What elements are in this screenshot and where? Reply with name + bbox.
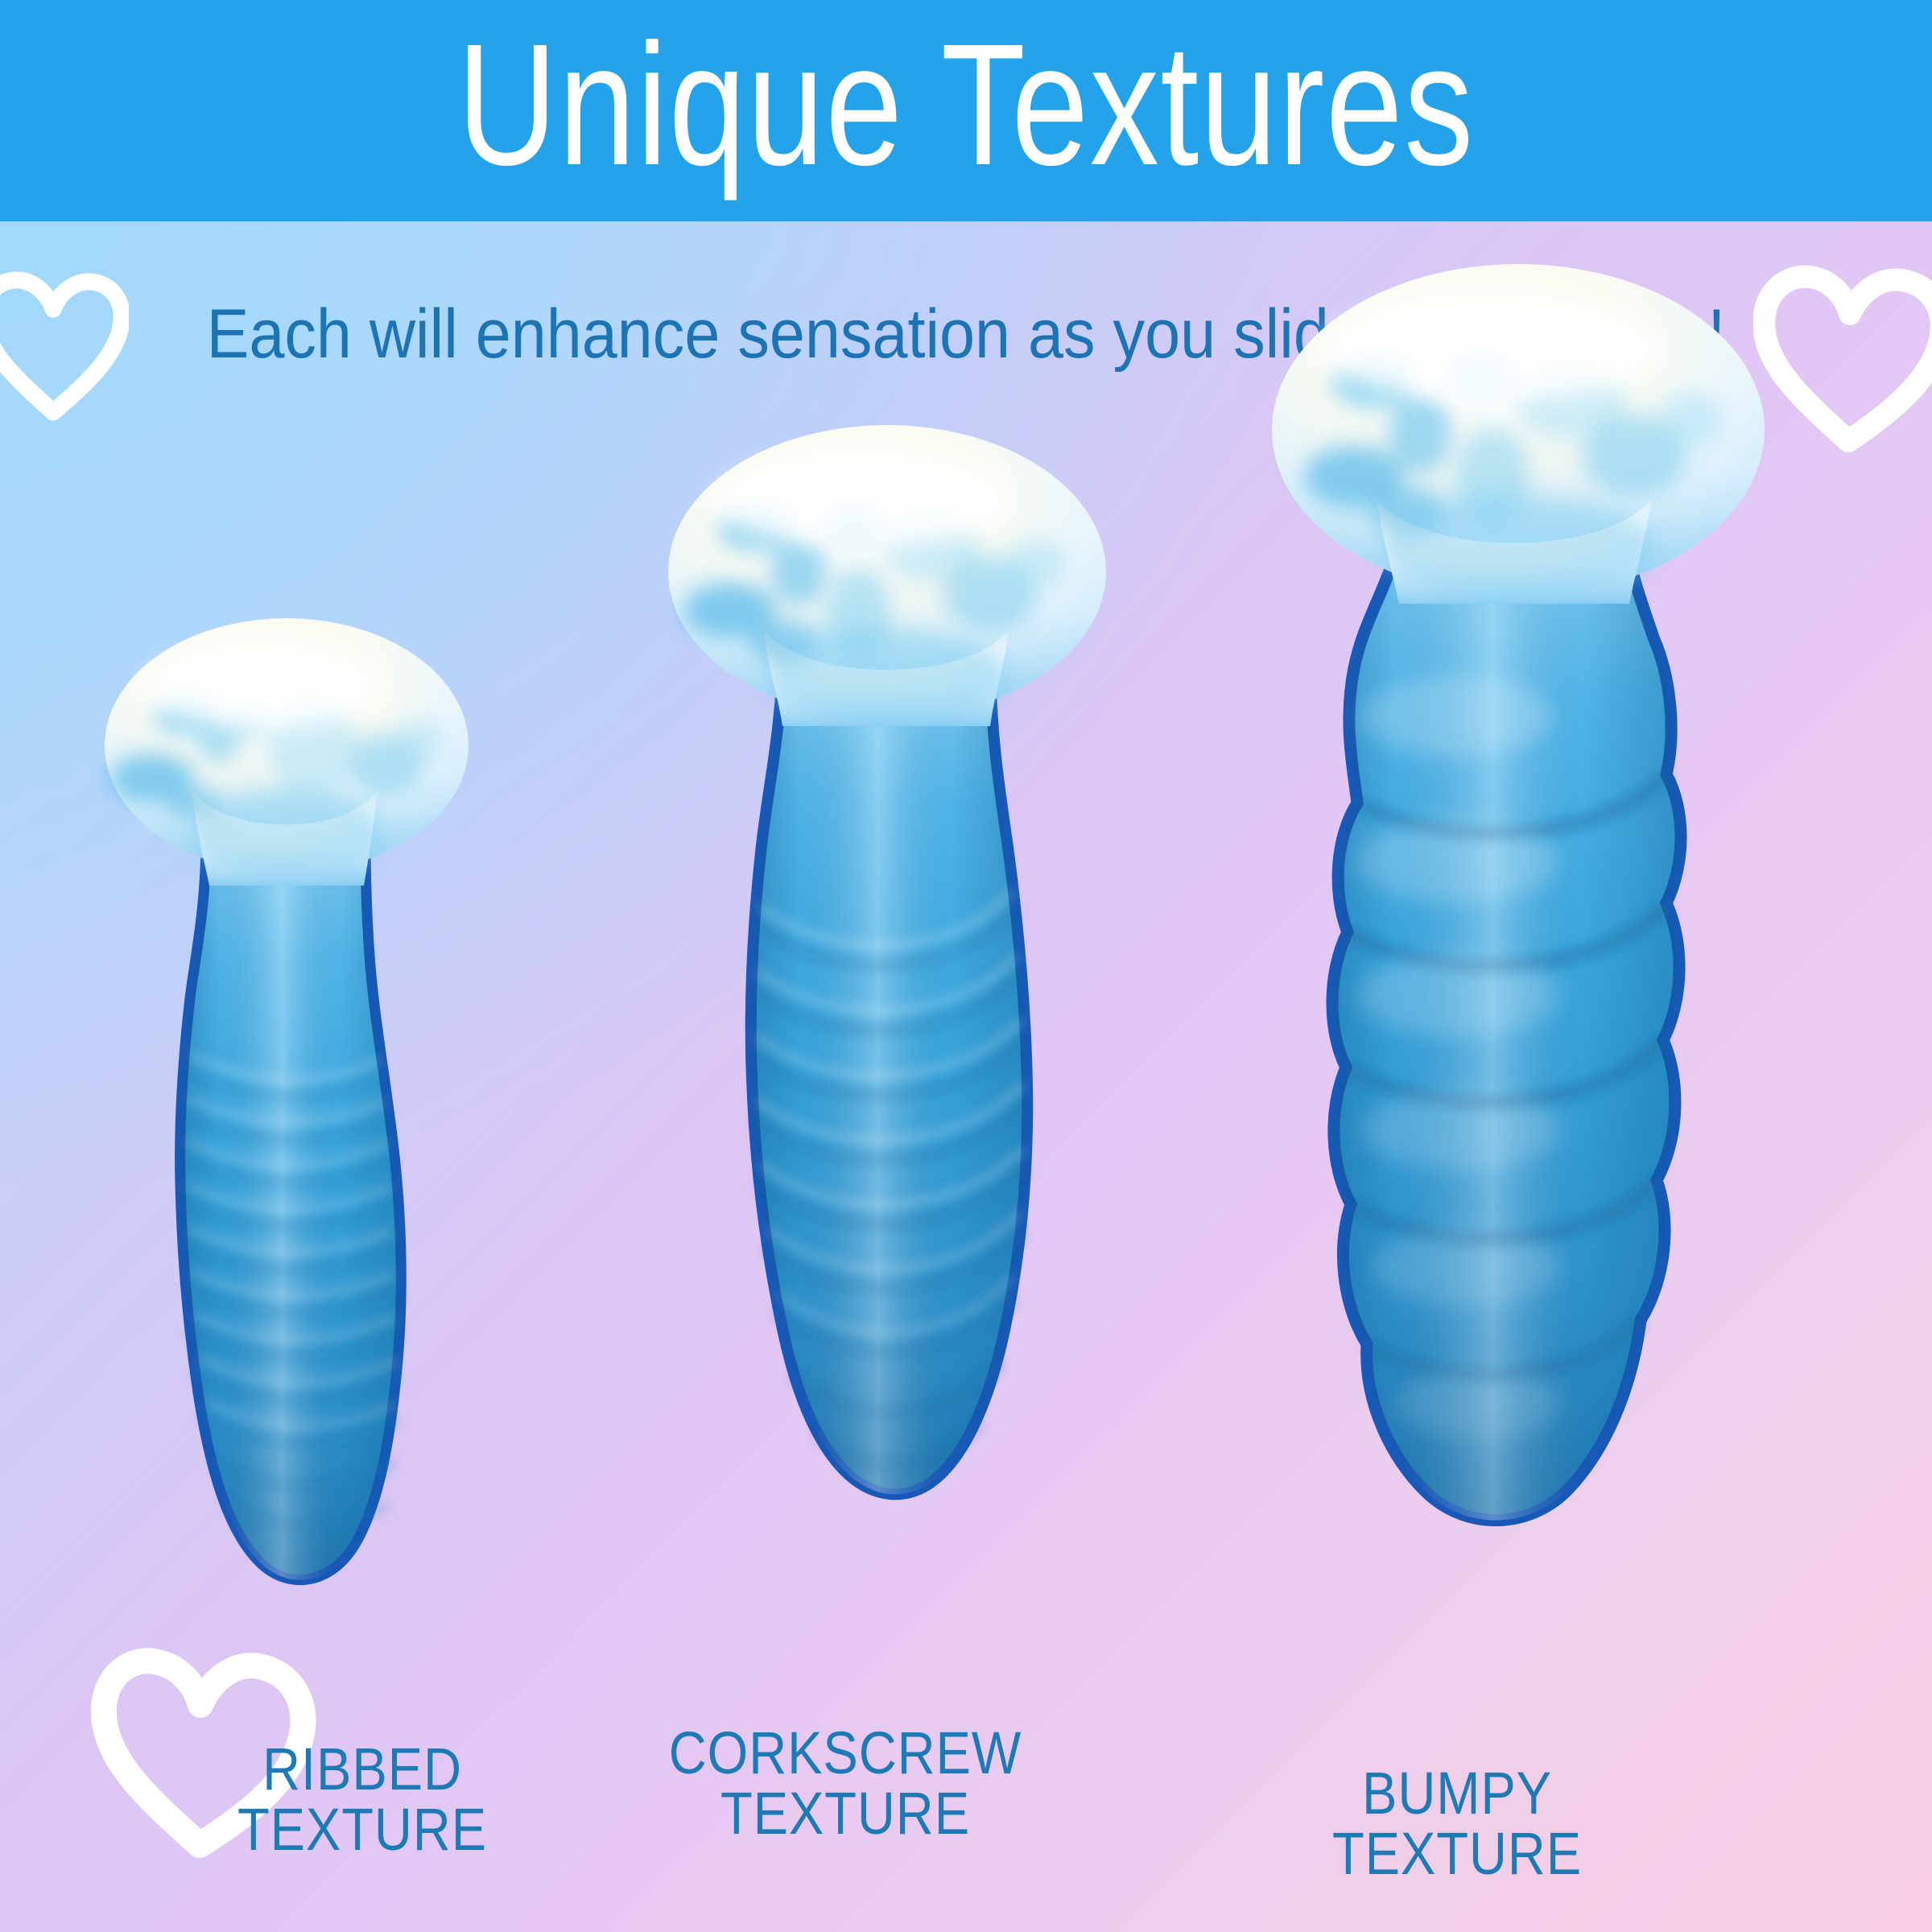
poster-canvas: Unique Textures Each will enhance sensat… [0,0,1932,1932]
label-ribbed-line2: TEXTURE [178,1799,547,1860]
header-banner: Unique Textures [0,0,1932,221]
label-corkscrew-line1: CORKSCREW [669,1719,1022,1786]
label-corkscrew-line2: TEXTURE [625,1783,1065,1843]
label-ribbed: RIBBED TEXTURE [178,1739,547,1860]
product-ribbed[interactable] [48,620,555,1747]
product-corkscrew[interactable] [612,427,1175,1763]
label-bumpy-line2: TEXTURE [1237,1823,1677,1884]
heart-top-left-icon [0,266,129,427]
label-corkscrew: CORKSCREW TEXTURE [625,1723,1065,1844]
label-ribbed-line1: RIBBED [262,1736,462,1802]
label-bumpy: BUMPY TEXTURE [1237,1763,1677,1885]
page-title: Unique Textures [457,25,1475,184]
product-bumpy[interactable] [1216,266,1843,1787]
label-bumpy-line1: BUMPY [1362,1760,1552,1827]
